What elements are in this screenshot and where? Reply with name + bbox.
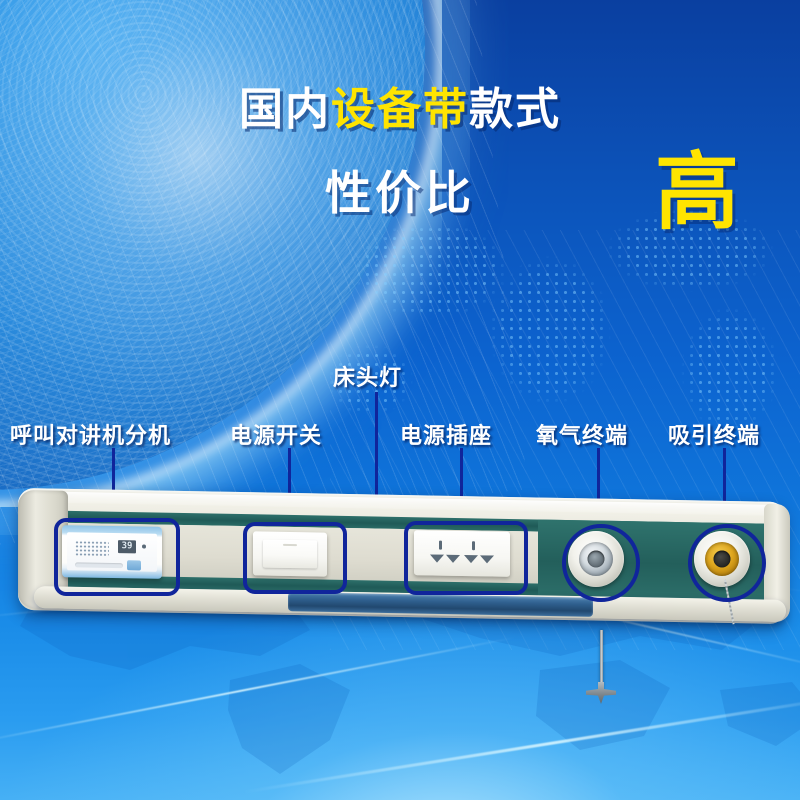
callout-label-bed-lamp: 床头灯: [333, 360, 402, 392]
highlight-circle-suction: [688, 524, 766, 602]
callout-label-suction-outlet: 吸引终端: [668, 418, 760, 450]
headline-part-3: 款式: [469, 84, 561, 135]
highlight-box-power-socket: [404, 521, 528, 595]
headline-part-1: 国内: [239, 84, 331, 135]
page-title: 国内设备带款式: [0, 88, 800, 132]
highlight-word: 高: [655, 150, 739, 234]
callout-label-power-switch: 电源开关: [230, 418, 322, 450]
callout-label-oxygen-outlet: 氧气终端: [536, 418, 628, 450]
callout-label-intercom: 呼叫对讲机分机: [10, 418, 171, 450]
highlight-circle-oxygen: [562, 524, 640, 602]
highlight-box-intercom: [54, 518, 180, 596]
callout-label-power-socket: 电源插座: [400, 418, 492, 450]
highlight-box-power-switch: [243, 522, 347, 594]
headline-part-2: 设备带: [331, 84, 469, 135]
poster-canvas: 国内设备带款式 性价比 高 呼叫对讲机分机 电源开关 床头灯 电源插座 氧气终端…: [0, 0, 800, 800]
